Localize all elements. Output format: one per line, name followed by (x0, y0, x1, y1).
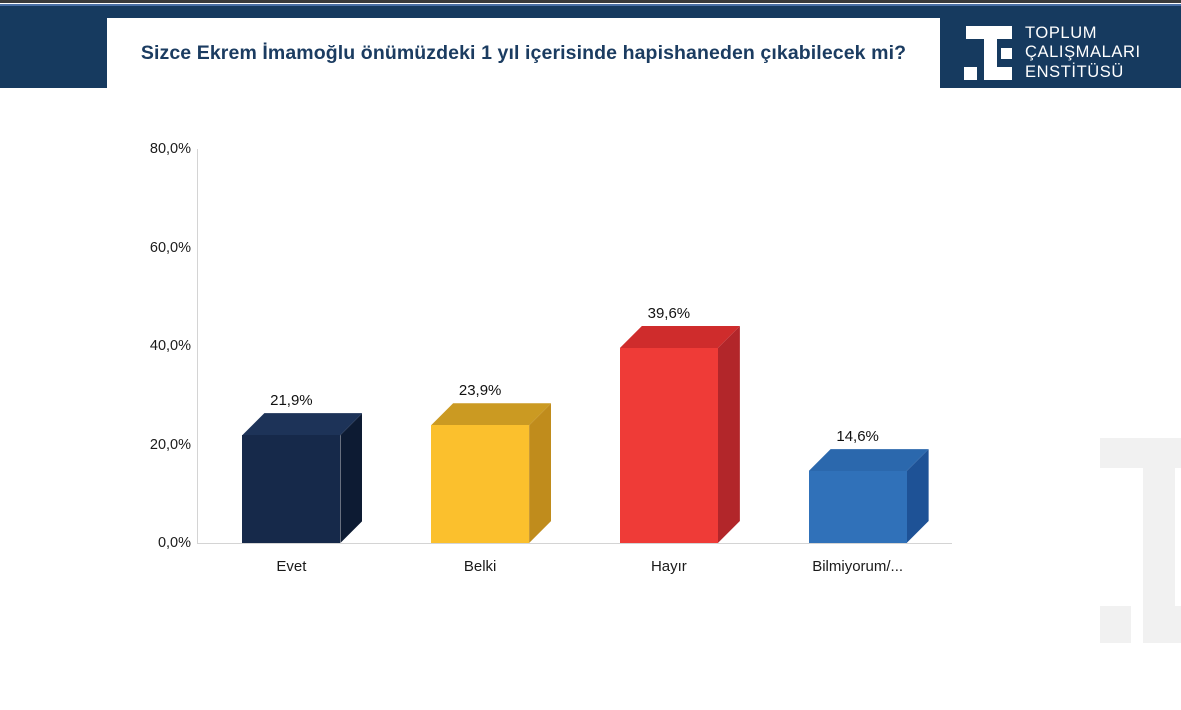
x-axis-line (197, 543, 952, 544)
logo-line-2: ÇALIŞMALARI (1025, 43, 1141, 62)
y-axis-tick: 80,0% (121, 141, 191, 157)
poll-chart-page: Sizce Ekrem İmamoğlu önümüzdeki 1 yıl iç… (0, 0, 1181, 710)
x-axis-labels: EvetBelkiHayırBilmiyorum/... (197, 558, 952, 588)
bar-value-label: 23,9% (459, 382, 502, 399)
y-axis-ticks: 80,0%60,0%40,0%20,0%0,0% (117, 149, 191, 543)
bar-front-face (242, 435, 340, 543)
header-band: Sizce Ekrem İmamoğlu önümüzdeki 1 yıl iç… (0, 6, 1181, 88)
bar-series: 21,9%23,9%39,6%14,6% (197, 149, 952, 543)
brand-logo: TOPLUM ÇALIŞMALARI ENSTİTÜSÜ (962, 22, 1167, 84)
bar-side-face (529, 403, 551, 543)
bar-slot: 23,9% (386, 149, 575, 543)
bar-bilmiyorum[interactable]: 14,6% (809, 449, 907, 543)
bar-front-face (620, 348, 718, 543)
x-axis-label: Evet (197, 558, 386, 588)
x-axis-label: Hayır (575, 558, 764, 588)
logo-mark-icon (962, 24, 1016, 82)
y-axis-tick: 40,0% (121, 338, 191, 354)
top-rule-dark (0, 0, 1181, 3)
bar-side-face (340, 413, 362, 543)
bar-belki[interactable]: 23,9% (431, 403, 529, 543)
x-axis-label: Bilmiyorum/... (763, 558, 952, 588)
bar-side-face (718, 326, 740, 543)
bar-evet[interactable]: 21,9% (242, 413, 340, 543)
bar-slot: 39,6% (575, 149, 764, 543)
bar-front-face (431, 425, 529, 543)
bar-value-label: 39,6% (648, 305, 691, 322)
y-axis-tick: 60,0% (121, 240, 191, 256)
title-box: Sizce Ekrem İmamoğlu önümüzdeki 1 yıl iç… (107, 18, 940, 88)
bar-slot: 21,9% (197, 149, 386, 543)
logo-wordmark: TOPLUM ÇALIŞMALARI ENSTİTÜSÜ (1025, 24, 1141, 82)
y-axis-tick: 0,0% (121, 535, 191, 551)
bar-slot: 14,6% (763, 149, 952, 543)
page-title: Sizce Ekrem İmamoğlu önümüzdeki 1 yıl iç… (141, 40, 906, 66)
logo-line-1: TOPLUM (1025, 24, 1141, 43)
y-axis-tick: 20,0% (121, 437, 191, 453)
bar-value-label: 14,6% (836, 428, 879, 445)
x-axis-label: Belki (386, 558, 575, 588)
bar-hay-r[interactable]: 39,6% (620, 326, 718, 543)
bar-chart: 80,0%60,0%40,0%20,0%0,0% 21,9%23,9%39,6%… (0, 88, 1181, 710)
plot-area: 21,9%23,9%39,6%14,6% (197, 149, 952, 543)
bar-value-label: 21,9% (270, 392, 313, 409)
logo-line-3: ENSTİTÜSÜ (1025, 63, 1141, 82)
bar-front-face (809, 471, 907, 543)
